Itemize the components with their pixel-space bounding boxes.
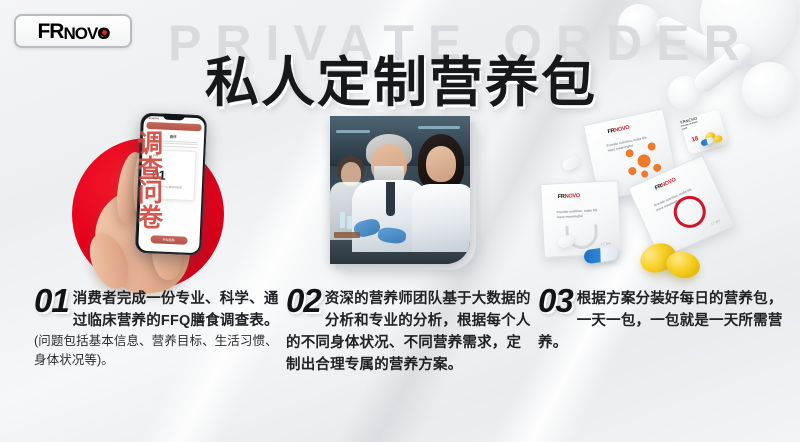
lab-photo bbox=[330, 116, 470, 264]
box-logo-orange: FRNOVO bbox=[607, 125, 630, 135]
lab-vial-2 bbox=[347, 216, 352, 229]
slide-canvas: PRIVATE ORDER FRNOVO 私人定制营养包 FR NOVO ···… bbox=[0, 0, 800, 442]
hand-holding-phone: FR NOVO ··· 测评 问卷 01 开始 您的 FFQ 膳食调查表 开始答… bbox=[86, 106, 276, 296]
phone-notch bbox=[163, 114, 185, 121]
vertical-char-1: 调 bbox=[138, 132, 163, 157]
male-scientist-tie bbox=[386, 182, 395, 216]
vertical-overlay-text: 调 查 问 卷 bbox=[138, 132, 163, 230]
step-02-number: 02 bbox=[286, 286, 321, 316]
box-footer-front: 工厂直供 bbox=[600, 241, 611, 246]
logo-prefix: FR bbox=[37, 21, 63, 42]
box-footer-redring: 工厂直供 bbox=[710, 218, 721, 226]
sachet-softgel-2 bbox=[713, 134, 724, 143]
product-photo: FRNOVO Provide nutrition, make life more… bbox=[532, 96, 800, 288]
brand-logo: FRNOVO bbox=[14, 14, 132, 48]
step-02-body: 资深的营养师团队基于大数据的分析和专业的分析，根据每个人的不同身体状况、不同营养… bbox=[286, 291, 531, 373]
step-01: 01 消费者完成一份专业、科学、通过临床营养的FFQ膳食调查表。 (问题包括基本… bbox=[34, 288, 286, 370]
step-01-note: (问题包括基本信息、营养目标、生活习惯、身体状况等)。 bbox=[34, 332, 286, 370]
step-01-body: 消费者完成一份专业、科学、通过临床营养的FFQ膳食调查表。 bbox=[73, 291, 279, 329]
lab-vial-1 bbox=[340, 212, 345, 228]
lab-light-1 bbox=[336, 130, 370, 133]
product-sachet: FRNOVO Private nutrition pack 18 bbox=[680, 109, 728, 155]
sachet-capsule bbox=[700, 136, 714, 147]
vertical-char-2: 查 bbox=[138, 157, 163, 182]
logo-red-dot-icon bbox=[100, 28, 109, 37]
step-02: 02 资深的营养师团队基于大数据的分析和专业的分析，根据每个人的不同身体状况、不… bbox=[286, 288, 534, 376]
vertical-char-3: 问 bbox=[138, 181, 163, 206]
step-03-body: 根据方案分装好每日的营养包，一天一包，一包就是一天所需营养。 bbox=[538, 291, 783, 351]
white-tablet-2 bbox=[560, 155, 581, 173]
vertical-char-4: 卷 bbox=[138, 206, 163, 231]
app-menu-icon[interactable]: ··· bbox=[198, 119, 201, 122]
sachet-count-badge: 18 bbox=[691, 136, 699, 144]
start-quiz-button[interactable]: 开始答题 bbox=[150, 235, 187, 245]
step-03: 03 根据方案分装好每日的营养包，一天一包，一包就是一天所需营养。 bbox=[538, 288, 790, 354]
female-scientist-head bbox=[426, 146, 456, 182]
app-brand-label: FR NOVO bbox=[147, 116, 159, 120]
lab-sample-tray bbox=[334, 232, 360, 238]
step-03-number: 03 bbox=[538, 286, 573, 316]
lab-light-2 bbox=[418, 126, 460, 129]
box-logo-redring: FRNOVO bbox=[654, 177, 677, 191]
step-01-number: 01 bbox=[34, 286, 69, 316]
box-tagline-front: Provide nutrition, make life more meanin… bbox=[557, 208, 601, 220]
box-logo-front: FRNOVO bbox=[558, 193, 580, 200]
female-scientist-coat bbox=[412, 184, 470, 252]
